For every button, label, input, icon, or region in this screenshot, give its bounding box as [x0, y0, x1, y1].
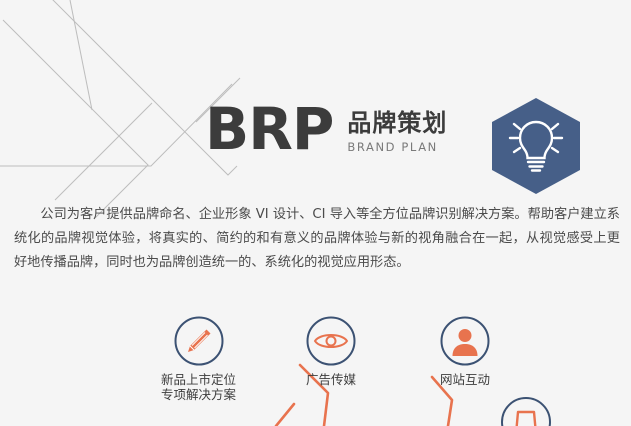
- brand-english-name: BRAND PLAN: [347, 140, 447, 154]
- brand-name-block: 品牌策划 BRAND PLAN: [347, 104, 447, 154]
- feature-item-advertising[interactable]: 广告传媒: [306, 316, 356, 387]
- hexagon-lightbulb-logo: [488, 96, 584, 196]
- feature-item-new-product[interactable]: 新品上市定位 专项解决方案: [161, 316, 236, 402]
- person-icon: [440, 316, 490, 366]
- eye-icon: [306, 316, 356, 366]
- feature-label: 新品上市定位 专项解决方案: [161, 372, 236, 402]
- bag-icon: [516, 412, 536, 426]
- feature-label: 网站互动: [440, 372, 490, 387]
- brand-chinese-name: 品牌策划: [347, 110, 447, 136]
- brand-lockup: BRP 品牌策划 BRAND PLAN: [205, 100, 447, 158]
- feature-item-partial[interactable]: [500, 396, 552, 426]
- feature-item-website[interactable]: 网站互动: [440, 316, 490, 387]
- feature-label: 广告传媒: [306, 372, 356, 387]
- hexagon-shape: [492, 98, 580, 194]
- brand-plan-banner: BRP 品牌策划 BRAND PLAN 公司为客户提供品牌命名、企业形象 VI …: [0, 0, 631, 426]
- body-paragraph: 公司为客户提供品牌命名、企业形象 VI 设计、CI 导入等全方位品牌识别解决方案…: [14, 203, 620, 275]
- pencil-icon: [174, 316, 224, 366]
- brp-wordmark: BRP: [205, 100, 333, 158]
